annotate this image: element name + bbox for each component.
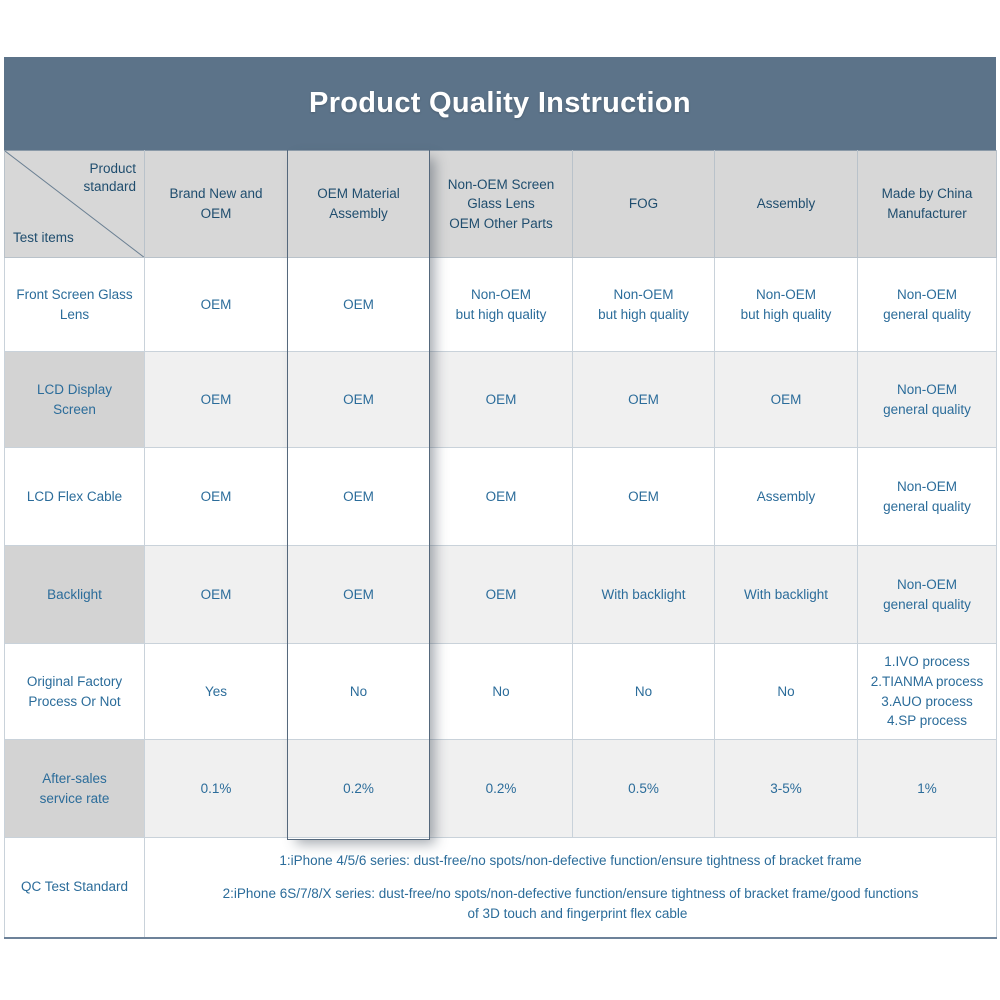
column-header-line: Manufacturer [864, 204, 990, 224]
cell-r3-c1: OEM [288, 546, 430, 644]
cell-r4-c0: Yes [145, 644, 288, 740]
cell-line: but high quality [579, 305, 708, 325]
cell-line: 1.IVO process [864, 652, 990, 672]
column-header-3: FOG [573, 151, 715, 258]
cell-line: OEM [294, 295, 423, 315]
cell-line: 0.2% [436, 779, 566, 799]
corner-header-cell: Product standardTest items [5, 151, 145, 258]
row-header-line: Screen [11, 400, 138, 420]
cell-line: OEM [294, 390, 423, 410]
column-header-line: OEM Material [294, 184, 423, 204]
qc-line-2-cont: of 3D touch and fingerprint flex cable [151, 904, 990, 924]
cell-r0-c0: OEM [145, 258, 288, 352]
cell-line: OEM [721, 390, 851, 410]
cell-line: general quality [864, 305, 990, 325]
cell-r2-c0: OEM [145, 448, 288, 546]
cell-r5-c0: 0.1% [145, 740, 288, 838]
table-row: Original FactoryProcess Or NotYesNoNoNoN… [5, 644, 997, 740]
cell-line: Non-OEM [864, 575, 990, 595]
qc-standard-text: 1:iPhone 4/5/6 series: dust-free/no spot… [145, 838, 997, 938]
cell-r4-c5: 1.IVO process2.TIANMA process3.AUO proce… [858, 644, 997, 740]
page-title: Product Quality Instruction [309, 87, 691, 120]
cell-line: OEM [151, 585, 281, 605]
cell-line: general quality [864, 595, 990, 615]
cell-line: OEM [579, 390, 708, 410]
cell-r4-c1: No [288, 644, 430, 740]
cell-line: OEM [151, 390, 281, 410]
cell-line: 0.5% [579, 779, 708, 799]
column-header-line: FOG [579, 194, 708, 214]
row-header-3: Backlight [5, 546, 145, 644]
qc-standard-row: QC Test Standard1:iPhone 4/5/6 series: d… [5, 838, 997, 938]
cell-r0-c2: Non-OEMbut high quality [430, 258, 573, 352]
cell-r3-c5: Non-OEMgeneral quality [858, 546, 997, 644]
table-header-row: Product standardTest itemsBrand New andO… [5, 151, 997, 258]
page-root: Product Quality Instruction Product stan… [0, 0, 1000, 1000]
cell-r3-c2: OEM [430, 546, 573, 644]
qc-line-1: 1:iPhone 4/5/6 series: dust-free/no spot… [151, 851, 990, 871]
cell-line: but high quality [436, 305, 566, 325]
cell-line: 1% [864, 779, 990, 799]
column-header-0: Brand New andOEM [145, 151, 288, 258]
cell-line: No [579, 682, 708, 702]
cell-line: OEM [436, 585, 566, 605]
cell-line: 3-5% [721, 779, 851, 799]
cell-r0-c4: Non-OEMbut high quality [715, 258, 858, 352]
cell-r2-c4: Assembly [715, 448, 858, 546]
cell-line: Yes [151, 682, 281, 702]
cell-line: 3.AUO process [864, 692, 990, 712]
cell-r5-c5: 1% [858, 740, 997, 838]
cell-r2-c1: OEM [288, 448, 430, 546]
row-header-1: LCD DisplayScreen [5, 352, 145, 448]
column-header-line: Glass Lens [436, 194, 566, 214]
row-header-5: After-salesservice rate [5, 740, 145, 838]
row-header-line: LCD Flex Cable [11, 487, 138, 507]
row-header-line: Original Factory [11, 672, 138, 692]
cell-line: No [721, 682, 851, 702]
column-header-line: Assembly [294, 204, 423, 224]
row-header-line: Process Or Not [11, 692, 138, 712]
cell-r4-c3: No [573, 644, 715, 740]
cell-line: Assembly [721, 487, 851, 507]
cell-line: With backlight [579, 585, 708, 605]
cell-r2-c2: OEM [430, 448, 573, 546]
cell-line: 0.1% [151, 779, 281, 799]
row-header-line: service rate [11, 789, 138, 809]
row-header-line: Lens [11, 305, 138, 325]
table-row: Front Screen GlassLensOEMOEMNon-OEMbut h… [5, 258, 997, 352]
cell-r2-c3: OEM [573, 448, 715, 546]
cell-line: general quality [864, 497, 990, 517]
cell-r2-c5: Non-OEMgeneral quality [858, 448, 997, 546]
row-header-line: LCD Display [11, 380, 138, 400]
cell-r5-c4: 3-5% [715, 740, 858, 838]
column-header-line: Brand New and [151, 184, 281, 204]
table-row: LCD DisplayScreenOEMOEMOEMOEMOEMNon-OEMg… [5, 352, 997, 448]
cell-r1-c0: OEM [145, 352, 288, 448]
table-row: LCD Flex CableOEMOEMOEMOEMAssemblyNon-OE… [5, 448, 997, 546]
cell-line: No [294, 682, 423, 702]
cell-line: Non-OEM [864, 285, 990, 305]
cell-r4-c2: No [430, 644, 573, 740]
cell-line: Non-OEM [579, 285, 708, 305]
quality-table-wrapper: Product standardTest itemsBrand New andO… [4, 150, 996, 939]
cell-line: Non-OEM [436, 285, 566, 305]
cell-line: OEM [579, 487, 708, 507]
cell-line: 4.SP process [864, 711, 990, 731]
table-row: After-salesservice rate0.1%0.2%0.2%0.5%3… [5, 740, 997, 838]
cell-r0-c5: Non-OEMgeneral quality [858, 258, 997, 352]
table-row: BacklightOEMOEMOEMWith backlightWith bac… [5, 546, 997, 644]
column-header-4: Assembly [715, 151, 858, 258]
cell-line: Non-OEM [864, 380, 990, 400]
corner-product-standard-label: Product standard [60, 160, 136, 195]
cell-line: OEM [436, 487, 566, 507]
qc-line-2: 2:iPhone 6S/7/8/X series: dust-free/no s… [151, 884, 990, 923]
cell-r1-c5: Non-OEMgeneral quality [858, 352, 997, 448]
cell-line: OEM [294, 585, 423, 605]
column-header-line: OEM [151, 204, 281, 224]
cell-r0-c3: Non-OEMbut high quality [573, 258, 715, 352]
column-header-line: OEM Other Parts [436, 214, 566, 234]
cell-line: With backlight [721, 585, 851, 605]
column-header-1: OEM MaterialAssembly [288, 151, 430, 258]
row-header-4: Original FactoryProcess Or Not [5, 644, 145, 740]
cell-line: OEM [294, 487, 423, 507]
column-header-2: Non-OEM ScreenGlass LensOEM Other Parts [430, 151, 573, 258]
row-header-line: Backlight [11, 585, 138, 605]
column-header-line: Made by China [864, 184, 990, 204]
cell-line: No [436, 682, 566, 702]
qc-line-2-main: 2:iPhone 6S/7/8/X series: dust-free/no s… [151, 884, 990, 904]
cell-r1-c4: OEM [715, 352, 858, 448]
cell-r3-c4: With backlight [715, 546, 858, 644]
cell-r1-c3: OEM [573, 352, 715, 448]
row-header-line: After-sales [11, 769, 138, 789]
cell-r5-c2: 0.2% [430, 740, 573, 838]
cell-line: Non-OEM [721, 285, 851, 305]
cell-line: OEM [151, 295, 281, 315]
row-header-line: Front Screen Glass [11, 285, 138, 305]
cell-r3-c0: OEM [145, 546, 288, 644]
quality-comparison-table: Product standardTest itemsBrand New andO… [4, 150, 997, 939]
cell-r0-c1: OEM [288, 258, 430, 352]
cell-r3-c3: With backlight [573, 546, 715, 644]
row-header-2: LCD Flex Cable [5, 448, 145, 546]
cell-line: Non-OEM [864, 477, 990, 497]
corner-test-items-label: Test items [13, 229, 74, 247]
title-band: Product Quality Instruction [4, 57, 996, 150]
cell-line: but high quality [721, 305, 851, 325]
column-header-line: Assembly [721, 194, 851, 214]
row-header-0: Front Screen GlassLens [5, 258, 145, 352]
column-header-line: Non-OEM Screen [436, 175, 566, 195]
cell-r1-c2: OEM [430, 352, 573, 448]
table-body: Product standardTest itemsBrand New andO… [5, 151, 997, 938]
cell-line: general quality [864, 400, 990, 420]
qc-standard-label: QC Test Standard [5, 838, 145, 938]
column-header-5: Made by ChinaManufacturer [858, 151, 997, 258]
cell-r4-c4: No [715, 644, 858, 740]
cell-line: OEM [436, 390, 566, 410]
cell-r5-c3: 0.5% [573, 740, 715, 838]
cell-line: 0.2% [294, 779, 423, 799]
cell-line: OEM [151, 487, 281, 507]
cell-r1-c1: OEM [288, 352, 430, 448]
cell-line: 2.TIANMA process [864, 672, 990, 692]
cell-r5-c1: 0.2% [288, 740, 430, 838]
